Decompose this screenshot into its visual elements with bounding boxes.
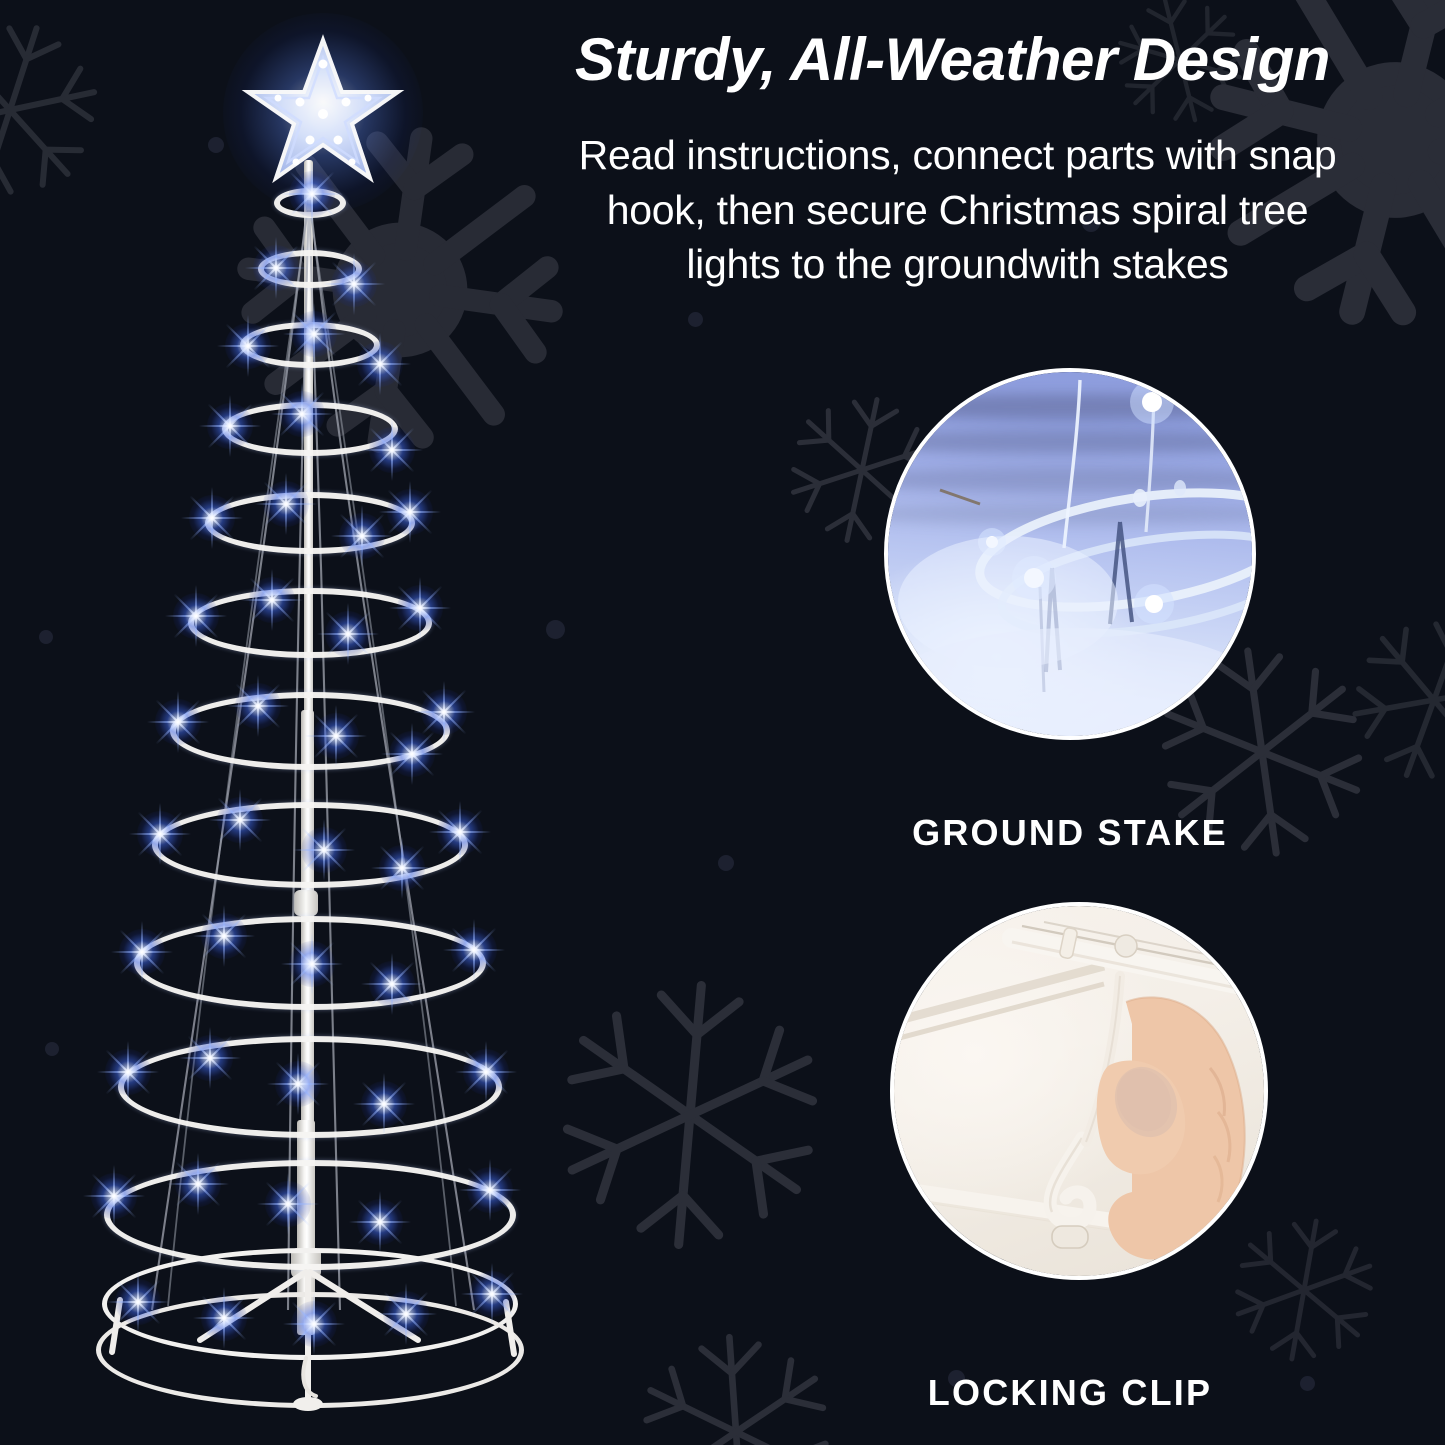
- caption-ground-stake: GROUND STAKE: [860, 812, 1280, 854]
- led-light-icon: [322, 848, 326, 852]
- inset-photo-ground-stake: [884, 368, 1256, 740]
- led-light-icon: [410, 752, 414, 756]
- led-light-icon: [126, 1070, 130, 1074]
- led-light-icon: [296, 1082, 300, 1086]
- led-light-icon: [270, 598, 274, 602]
- led-light-icon: [312, 332, 316, 336]
- led-light-icon: [284, 502, 288, 506]
- led-light-icon: [310, 192, 314, 196]
- decorative-dot: [45, 1042, 59, 1056]
- led-light-icon: [352, 282, 356, 286]
- led-light-icon: [194, 614, 198, 618]
- led-light-icon: [488, 1188, 492, 1192]
- led-light-icon: [334, 734, 338, 738]
- led-light-icon: [286, 1202, 290, 1206]
- led-light-icon: [222, 934, 226, 938]
- locking-clip-photo: [894, 906, 1264, 1276]
- description-line: lights to the groundwith stakes: [470, 237, 1445, 292]
- led-light-icon: [382, 1102, 386, 1106]
- led-light-icon: [312, 1322, 316, 1326]
- led-light-icon: [360, 534, 364, 538]
- led-light-icon: [274, 266, 278, 270]
- led-light-icon: [472, 948, 476, 952]
- led-light-icon: [176, 720, 180, 724]
- led-light-icon: [136, 1300, 140, 1304]
- decorative-dot: [39, 630, 53, 644]
- led-light-icon: [228, 424, 232, 428]
- description-line: hook, then secure Christmas spiral tree: [470, 183, 1445, 238]
- led-light-icon: [140, 950, 144, 954]
- led-light-icon: [490, 1292, 494, 1296]
- led-light-icon: [238, 818, 242, 822]
- led-light-icon: [408, 510, 412, 514]
- led-light-icon: [210, 516, 214, 520]
- description-line: Read instructions, connect parts with sn…: [470, 128, 1445, 183]
- led-light-icon: [246, 344, 250, 348]
- led-light-icon: [222, 1316, 226, 1320]
- inset-photo-locking-clip: [890, 902, 1268, 1280]
- led-light-icon: [300, 412, 304, 416]
- caption-locking-clip: LOCKING CLIP: [860, 1372, 1280, 1414]
- page-title: Sturdy, All-Weather Design: [470, 28, 1435, 93]
- led-light-icon: [442, 710, 446, 714]
- snowflake-icon: [641, 1331, 830, 1445]
- led-light-icon: [310, 962, 314, 966]
- promo-image: Sturdy, All-Weather Design Read instruct…: [0, 0, 1445, 1445]
- led-light-icon: [196, 1182, 200, 1186]
- led-light-icon: [418, 606, 422, 610]
- led-light-icon: [378, 362, 382, 366]
- decorative-dot: [1300, 1376, 1315, 1391]
- led-light-icon: [378, 1220, 382, 1224]
- led-light-icon: [158, 832, 162, 836]
- led-light-icon: [112, 1194, 116, 1198]
- led-light-icon: [458, 830, 462, 834]
- decorative-dot: [688, 312, 703, 327]
- led-light-icon: [256, 704, 260, 708]
- snowflake-icon: [1337, 599, 1445, 800]
- ground-stake-photo: [888, 372, 1252, 736]
- led-light-icon: [208, 1056, 212, 1060]
- led-light-icon: [346, 632, 350, 636]
- led-light-icon: [390, 448, 394, 452]
- led-light-icon: [390, 982, 394, 986]
- led-light-icon: [484, 1070, 488, 1074]
- snowflake-icon: [558, 975, 821, 1255]
- description-text: Read instructions, connect parts with sn…: [470, 128, 1445, 292]
- led-light-icon: [400, 866, 404, 870]
- led-light-icon: [404, 1312, 408, 1316]
- decorative-dot: [718, 855, 734, 871]
- product-spiral-tree: [60, 10, 580, 1440]
